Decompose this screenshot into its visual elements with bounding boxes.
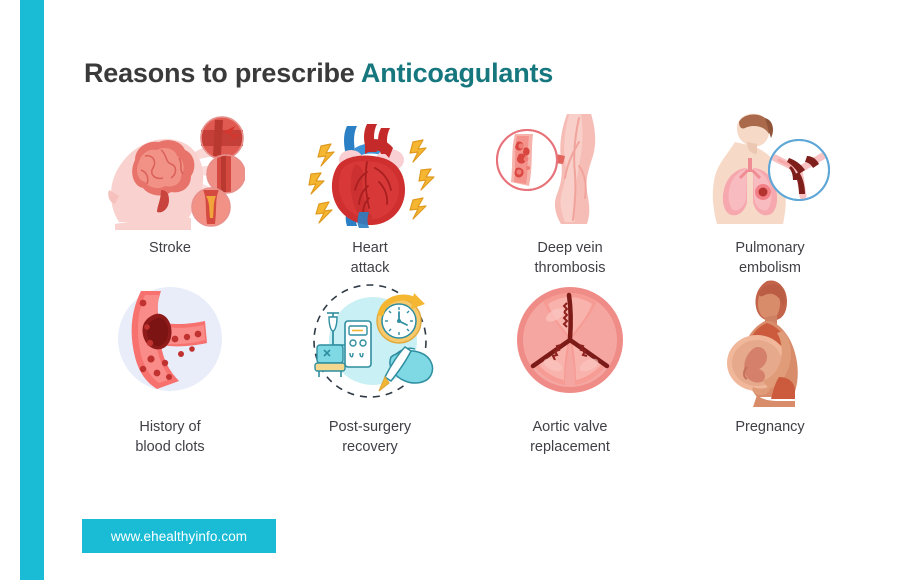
reason-item-dvt: Deep vein thrombosis — [470, 112, 670, 277]
reason-item-pregnancy: Pregnancy — [670, 277, 870, 462]
reason-item-stroke: Stroke — [70, 112, 270, 277]
reason-label: Post-surgery recovery — [329, 417, 411, 457]
page-title-lead: Reasons to prescribe — [84, 58, 361, 88]
heart-attack-icon — [295, 112, 445, 230]
reason-item-history-of-blood-clots: History of blood clots — [70, 277, 270, 462]
reason-label: Heart attack — [351, 238, 390, 278]
aortic-valve-icon — [495, 277, 645, 407]
deep-vein-thrombosis-icon — [495, 112, 645, 230]
reason-label: Pulmonary embolism — [735, 238, 804, 278]
reason-label: Aortic valve replacement — [530, 417, 610, 457]
pulmonary-embolism-icon — [695, 112, 845, 230]
reason-item-pulmonary-embolism: Pulmonary embolism — [670, 112, 870, 277]
post-surgery-recovery-icon — [295, 277, 445, 407]
reason-label: Deep vein thrombosis — [535, 238, 606, 278]
reason-item-post-surgery-recovery: Post-surgery recovery — [270, 277, 470, 462]
reasons-grid: Stroke — [70, 112, 870, 462]
stroke-brain-icon — [95, 112, 245, 230]
page-title: Reasons to prescribe Anticoagulants — [84, 58, 553, 89]
website-url-badge[interactable]: www.ehealthyinfo.com — [82, 519, 276, 553]
blood-clot-vessel-icon — [95, 277, 245, 407]
reason-label: Pregnancy — [735, 417, 804, 437]
reason-label: Stroke — [149, 238, 191, 258]
website-url-text: www.ehealthyinfo.com — [111, 529, 247, 544]
reason-label: History of blood clots — [135, 417, 204, 457]
page-title-accent: Anticoagulants — [361, 58, 553, 88]
reason-item-aortic-valve-replacement: Aortic valve replacement — [470, 277, 670, 462]
left-accent-bar — [20, 0, 44, 580]
pregnancy-icon — [695, 277, 845, 407]
reason-item-heart-attack: Heart attack — [270, 112, 470, 277]
